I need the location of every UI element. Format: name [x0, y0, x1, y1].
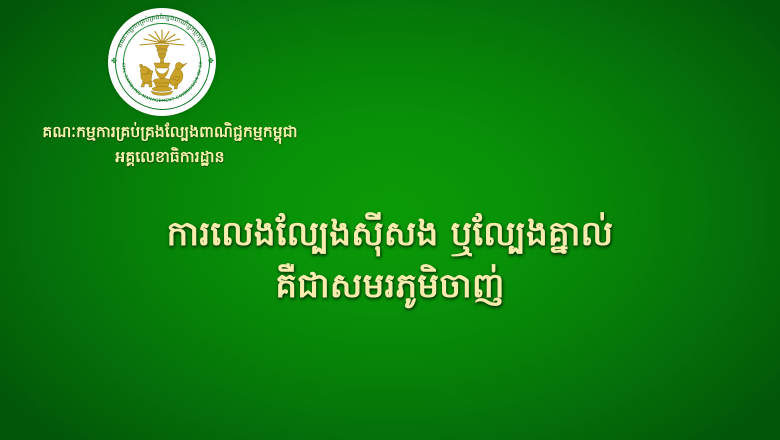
- organization-name-line1: គណៈកម្មការគ្រប់គ្រងល្បែងពាណិជ្ជកម្មកម្ពុ…: [0, 120, 340, 145]
- logo-left-ornament-icon: ✤: [111, 59, 116, 64]
- logo-right-ornament-icon: ✤: [208, 59, 213, 64]
- slide-title-line1: ការលេងល្បែងស៊ីសង ឬល្បែងគ្នាល់: [0, 208, 780, 260]
- organization-logo: គណៈកម្មការគ្រប់គ្រងល្បែងពាណិជ្ជកម្មកម្ពុ…: [108, 8, 216, 116]
- presentation-slide: គណៈកម្មការគ្រប់គ្រងល្បែងពាណិជ្ជកម្មកម្ពុ…: [0, 0, 780, 440]
- slide-title-line2: គឺជាសមរភូមិចាញ់: [0, 260, 780, 312]
- royal-emblem-icon: [124, 24, 200, 100]
- organization-header: គណៈកម្មការគ្រប់គ្រងល្បែងពាណិជ្ជកម្មកម្ពុ…: [0, 120, 340, 170]
- organization-name-line2: អគ្គលេខាធិការដ្ឋាន: [0, 145, 340, 170]
- slide-title: ការលេងល្បែងស៊ីសង ឬល្បែងគ្នាល់ គឺជាសមរភូម…: [0, 208, 780, 312]
